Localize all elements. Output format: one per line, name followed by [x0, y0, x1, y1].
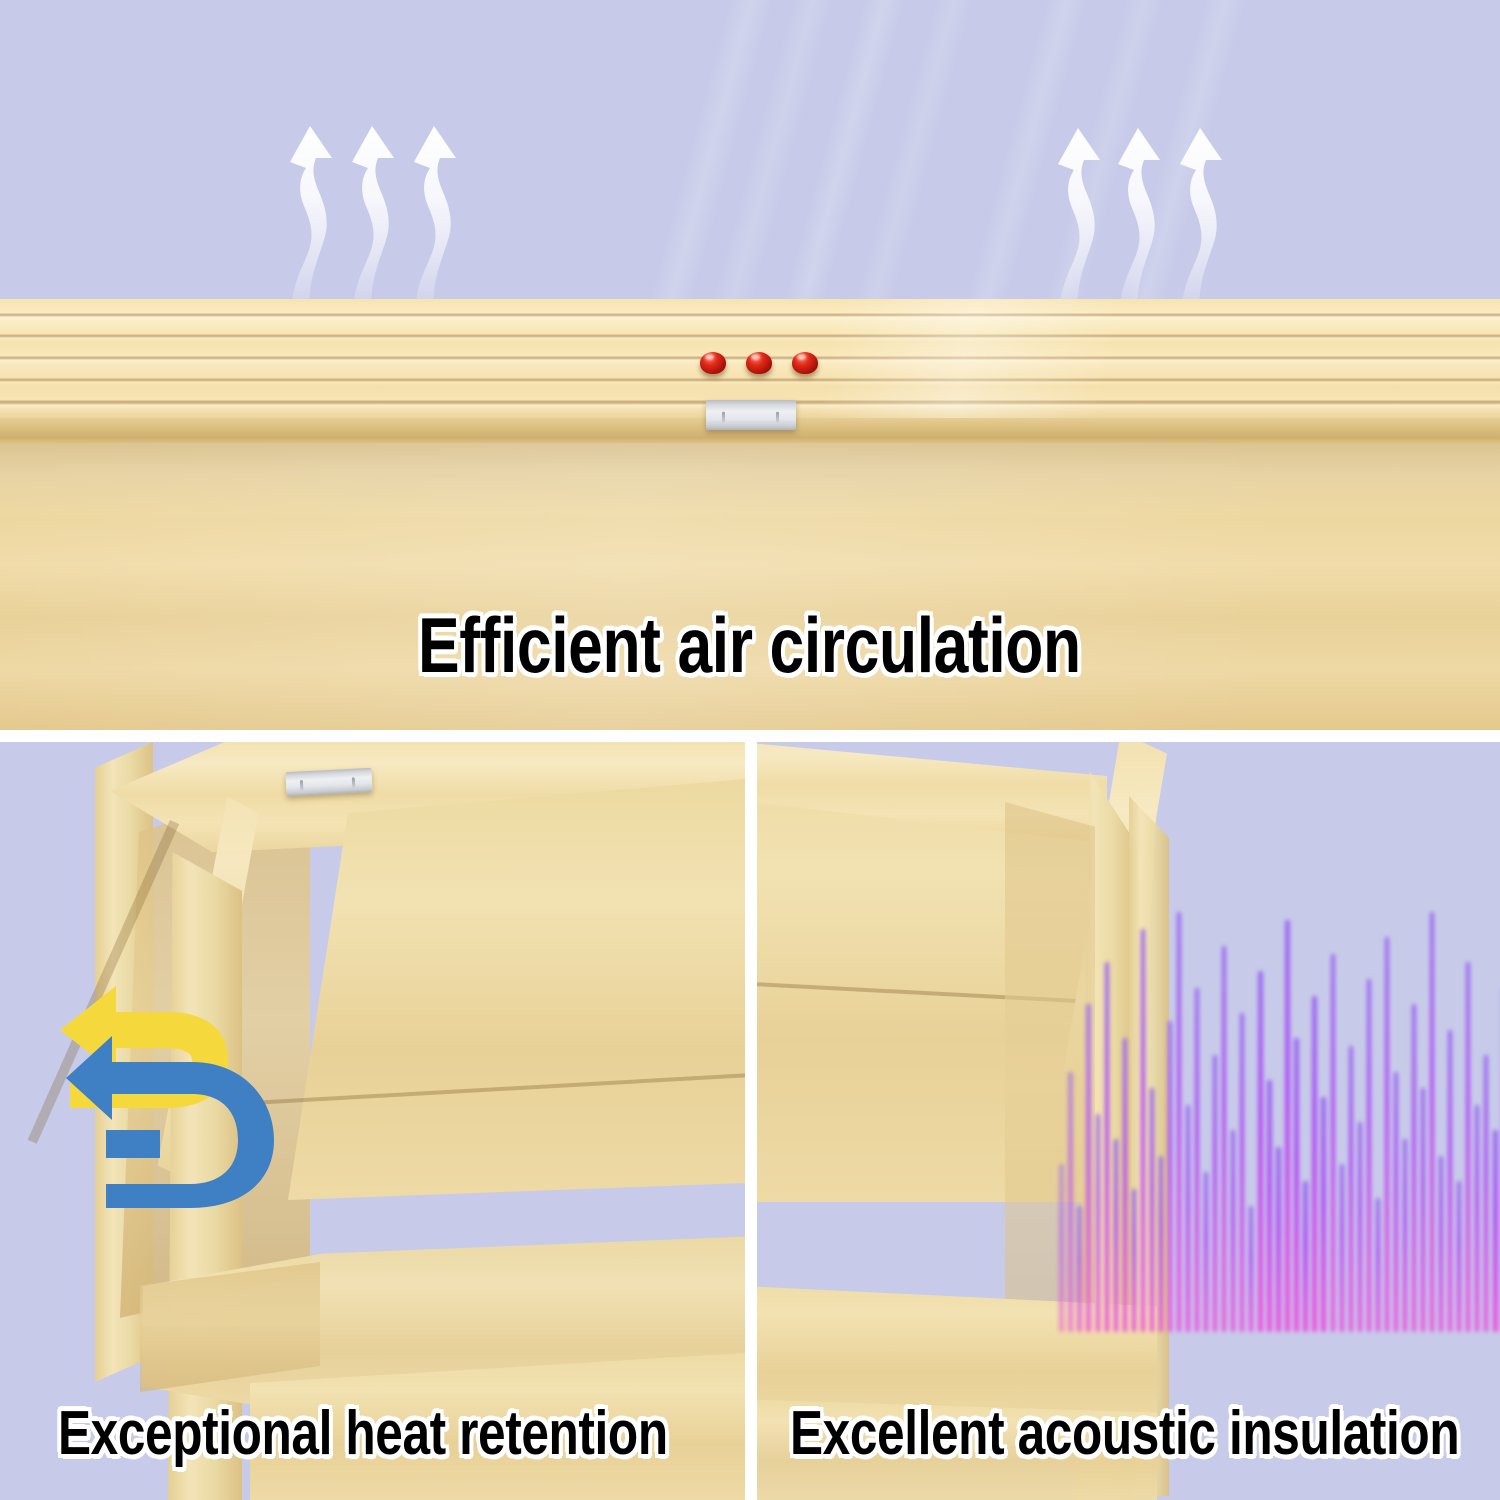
sound-wave-bar [1349, 1046, 1353, 1332]
sound-wave-bar [1376, 1198, 1380, 1332]
caption-efficient-air-circulation: Efficient air circulation [418, 600, 1081, 691]
red-led-indicator [792, 352, 818, 374]
sound-wave-bar [1358, 1122, 1362, 1332]
red-led-indicator [700, 352, 726, 374]
sound-wave-bar [1394, 1072, 1398, 1332]
sound-wave-bar [1285, 920, 1289, 1332]
sound-wave-bar [1186, 1105, 1190, 1332]
red-led-indicator [746, 352, 772, 374]
heat-arrow-icon [414, 126, 456, 316]
panel-excellent-acoustic-insulation: Excellent acoustic insulation [757, 742, 1500, 1500]
sound-wave-bar [1240, 1013, 1244, 1332]
sound-wave-bar [1077, 1206, 1081, 1332]
sound-wave-bar [1321, 1097, 1325, 1332]
metal-bracket [706, 400, 796, 430]
sound-wave-bar [1430, 912, 1434, 1332]
sound-wave-bar [1493, 1130, 1497, 1332]
sound-wave-bar [1294, 1038, 1298, 1332]
sound-wave-bar [1249, 1206, 1253, 1332]
sound-wave-bar [1267, 1080, 1271, 1332]
sound-wave-bar [1457, 1181, 1461, 1332]
metal-bracket [285, 768, 372, 796]
sound-wave-bar [1141, 929, 1145, 1332]
sound-wave-bar [1403, 1139, 1407, 1332]
sound-wave-bar [1213, 1055, 1217, 1332]
panel-divider-vertical [745, 730, 757, 1500]
left-heat-arrows-group [262, 118, 512, 318]
sound-wave-bar [1258, 971, 1262, 1332]
sound-wave-bars [1057, 912, 1500, 1332]
sound-wave-bar [1096, 1114, 1100, 1332]
sound-wave-bar [1303, 1181, 1307, 1332]
bracket-screw [352, 777, 356, 788]
sound-wave-bar [1484, 1055, 1488, 1332]
heat-arrow-icon [1180, 128, 1222, 318]
sound-wave-bar [1475, 1105, 1479, 1332]
heat-arrow-icon [1058, 128, 1100, 318]
sound-wave-bar [1159, 1156, 1163, 1332]
caption-excellent-acoustic-insulation: Excellent acoustic insulation [790, 1398, 1459, 1469]
circulation-loop-arrows [58, 964, 288, 1224]
sound-wave-bar [1331, 954, 1335, 1332]
sound-wave-bar [1448, 1030, 1452, 1332]
sound-wave-bar [1177, 912, 1181, 1332]
bracket-screw [776, 412, 779, 423]
bracket-screw [722, 412, 725, 423]
sound-wave-bar [1276, 1147, 1280, 1332]
sound-wave-bar [1340, 1164, 1344, 1332]
sound-wave-bar [1168, 1021, 1172, 1332]
sound-wave-bar [1195, 988, 1199, 1332]
sound-wave-bar [1439, 1156, 1443, 1332]
infographic-root: Efficient air circulation [0, 0, 1500, 1500]
inbound-air-arrow-icon [66, 1036, 274, 1208]
heat-arrow-icon [1118, 128, 1160, 318]
sound-wave-bar [1114, 1139, 1118, 1332]
sound-wave-bar [1150, 1088, 1154, 1332]
right-heat-arrows-group [1030, 118, 1280, 318]
caption-exceptional-heat-retention: Exceptional heat retention [58, 1398, 668, 1469]
bracket-screw [300, 780, 304, 791]
sound-wave-bar [1222, 946, 1226, 1332]
sound-wave-bar [1123, 1038, 1127, 1332]
heat-arrow-icon [352, 126, 394, 316]
sound-wave-bar [1068, 1072, 1072, 1332]
heat-arrow-icon [290, 126, 332, 316]
sound-wave-bar [1231, 1130, 1235, 1332]
sound-wave-bar [1204, 1172, 1208, 1332]
panel-exceptional-heat-retention: Exceptional heat retention [0, 742, 745, 1500]
sound-wave-bar [1412, 1004, 1416, 1332]
sound-wave-bar [1466, 962, 1470, 1332]
sound-wave-bar [1421, 1088, 1425, 1332]
sound-wave-bar [1105, 962, 1109, 1332]
sound-wave-bar [1086, 1004, 1090, 1332]
sound-wave-bar [1059, 1164, 1063, 1332]
sound-wave-bar [1312, 996, 1316, 1332]
sound-wave-bar [1132, 1189, 1136, 1332]
panel-efficient-air-circulation: Efficient air circulation [0, 0, 1500, 730]
sound-wave-bar [1367, 979, 1371, 1332]
sound-wave-bar [1385, 937, 1389, 1332]
